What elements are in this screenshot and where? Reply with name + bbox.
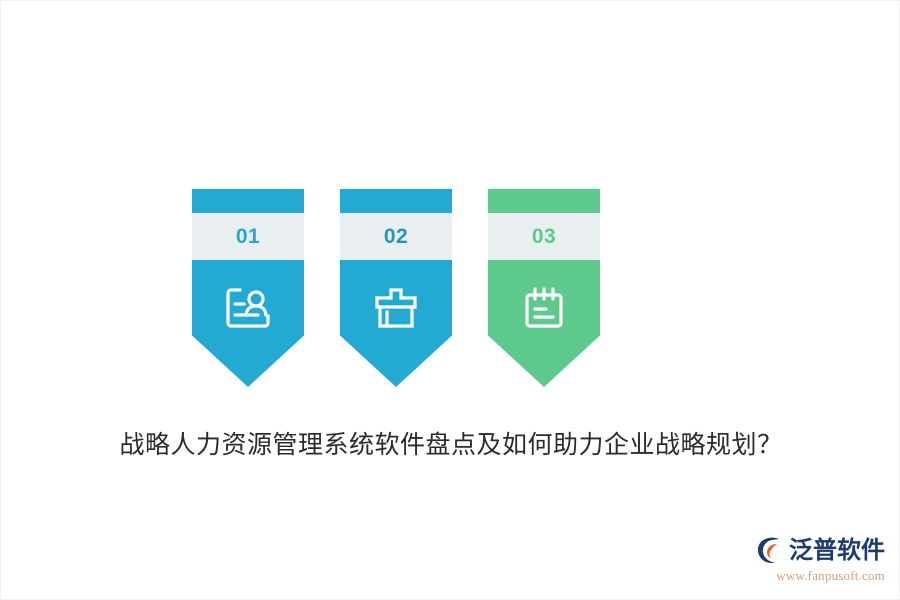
logo-url: www.fanpusoft.com xyxy=(753,568,885,584)
banner-item-03[interactable]: 03 xyxy=(488,189,600,387)
logo-row: 泛普软件 xyxy=(753,533,885,567)
fanpu-logo-icon xyxy=(755,535,785,565)
banner-number: 02 xyxy=(384,226,408,247)
banner-number: 03 xyxy=(532,226,556,247)
banner-number-band: 03 xyxy=(488,213,600,260)
logo-wordmark: 泛普软件 xyxy=(789,535,885,565)
notepad-icon xyxy=(488,277,600,339)
banner-group: 01 02 xyxy=(192,189,602,389)
page-title: 战略人力资源管理系统软件盘点及如何助力企业战略规划？ xyxy=(1,426,900,466)
page-canvas: 01 02 xyxy=(0,0,900,600)
watermark-logo: 泛普软件 www.fanpusoft.com xyxy=(753,533,885,589)
banner-item-01[interactable]: 01 xyxy=(192,189,304,387)
building-icon xyxy=(340,277,452,339)
banner-item-02[interactable]: 02 xyxy=(340,189,452,387)
banner-number-band: 01 xyxy=(192,213,304,260)
banner-number-band: 02 xyxy=(340,213,452,260)
id-card-icon xyxy=(192,277,304,339)
banner-number: 01 xyxy=(236,226,260,247)
